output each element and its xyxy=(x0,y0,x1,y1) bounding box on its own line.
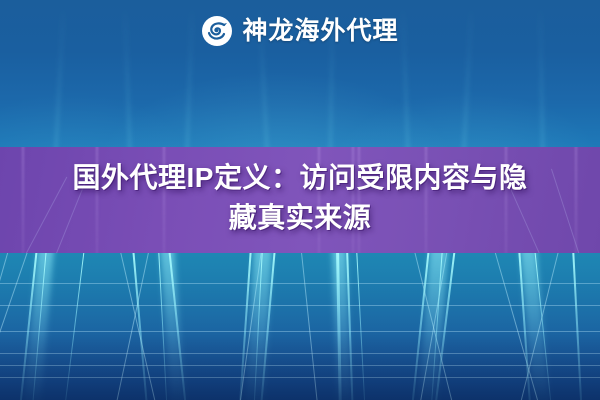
promo-banner: 神龙海外代理 国外代理IP定义：访问受限内容与隐 藏真实来源 xyxy=(0,0,600,400)
horizontal-grid-line xyxy=(0,283,600,284)
banner-title: 国外代理IP定义：访问受限内容与隐 藏真实来源 xyxy=(0,158,600,238)
banner-title-line-1: 国外代理IP定义：访问受限内容与隐 xyxy=(18,158,582,198)
dragon-swirl-icon xyxy=(201,15,233,47)
brand-logo: 神龙海外代理 xyxy=(0,12,600,50)
brand-name: 神龙海外代理 xyxy=(242,19,398,44)
horizontal-grid-line xyxy=(0,377,600,378)
horizontal-grid-line xyxy=(0,353,600,354)
banner-title-line-2: 藏真实来源 xyxy=(18,198,582,238)
bottom-teal-band xyxy=(0,253,600,400)
horizontal-grid-line xyxy=(0,331,600,332)
horizontal-grid-line xyxy=(0,365,600,366)
